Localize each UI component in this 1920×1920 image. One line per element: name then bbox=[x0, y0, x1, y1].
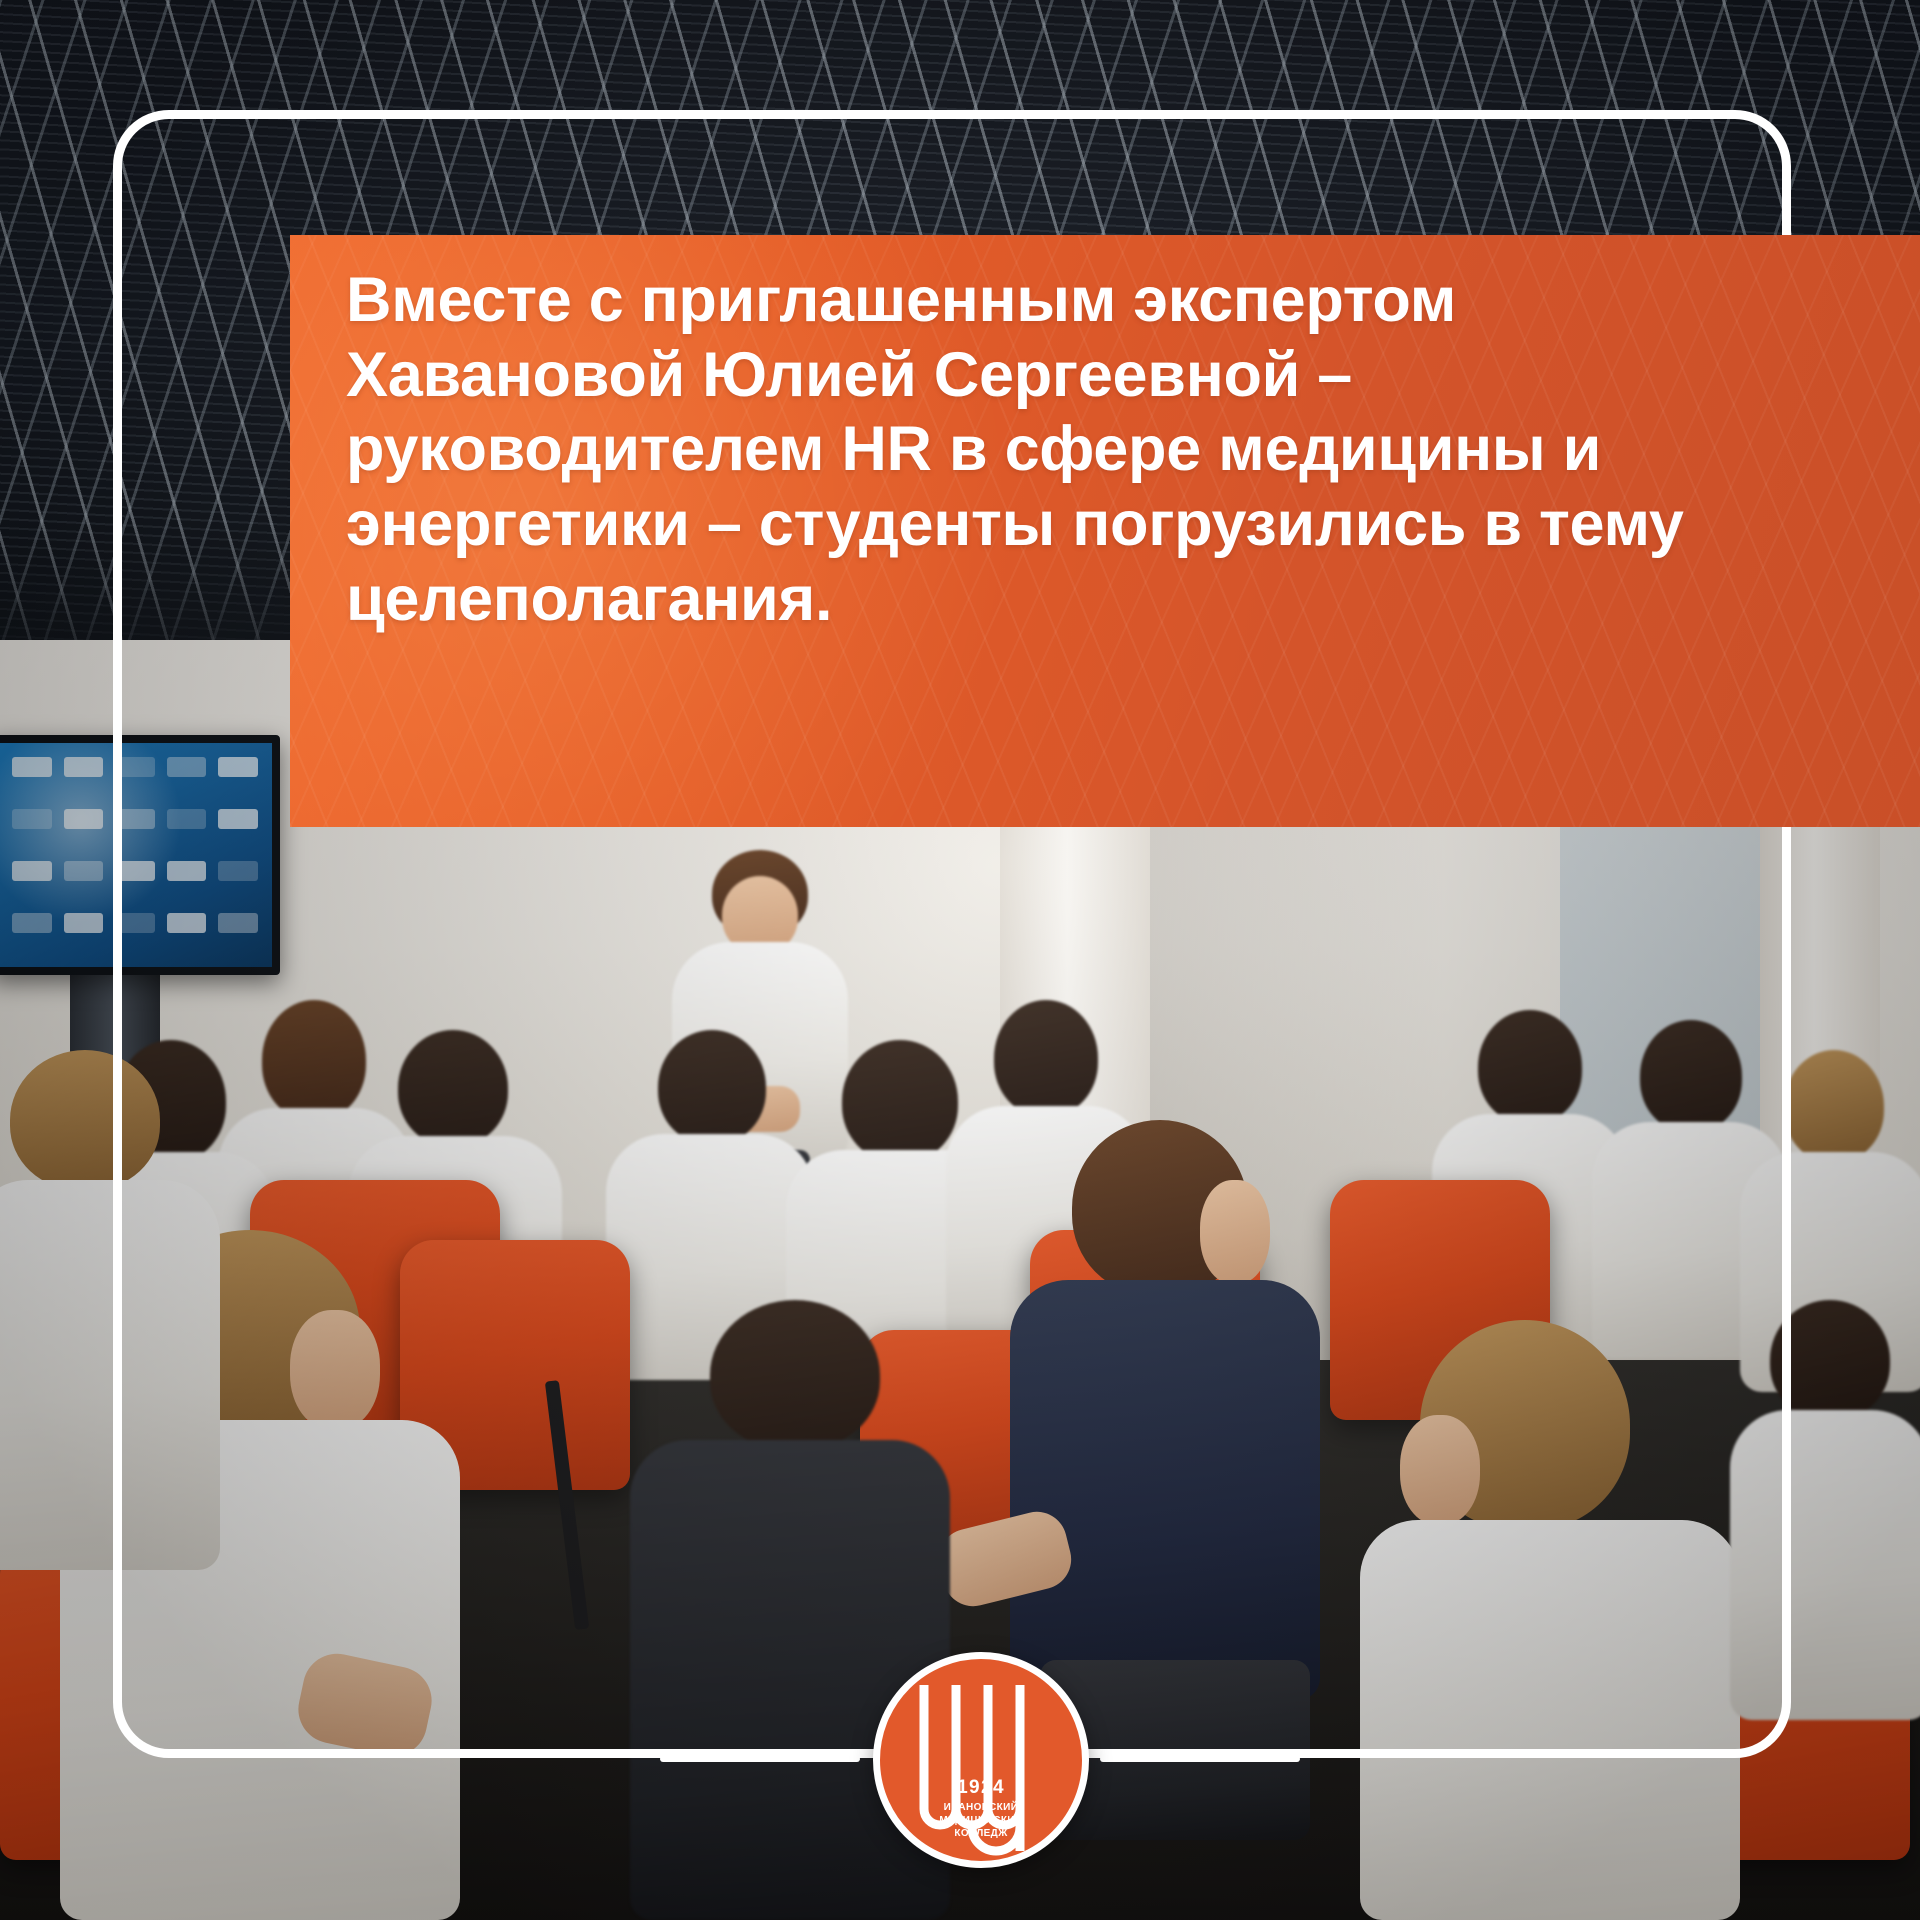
logo-name-line-3: КОЛЛЕДЖ bbox=[880, 1828, 1082, 1841]
logo-college-name: ИВАНОВСКИЙ МЕДИЦИНСКИЙ КОЛЛЕДЖ bbox=[880, 1802, 1082, 1840]
person-foreground-left-edge bbox=[0, 1050, 230, 1570]
social-post-poster: Вместе с приглашенным экспертом Хаваново… bbox=[0, 0, 1920, 1920]
white-coat bbox=[0, 1180, 220, 1570]
hair bbox=[994, 1000, 1098, 1116]
caption-panel: Вместе с приглашенным экспертом Хаваново… bbox=[290, 235, 1920, 827]
caption-text: Вместе с приглашенным экспертом Хаваново… bbox=[346, 263, 1705, 636]
wall-monitor bbox=[0, 735, 280, 975]
person-right-white-coat-lower bbox=[1730, 1300, 1920, 1720]
logo-rule-right bbox=[1100, 1756, 1300, 1762]
white-coat bbox=[1730, 1410, 1920, 1720]
logo-badge: 1924 ИВАНОВСКИЙ МЕДИЦИНСКИЙ КОЛЛЕДЖ bbox=[873, 1652, 1089, 1868]
hair bbox=[1770, 1300, 1890, 1420]
hair bbox=[1478, 1010, 1582, 1124]
hair bbox=[1640, 1020, 1742, 1132]
face bbox=[1400, 1415, 1480, 1525]
logo-name-line-2: МЕДИЦИНСКИЙ bbox=[880, 1815, 1082, 1828]
logo-rule-left bbox=[660, 1756, 860, 1762]
logo-name-line-1: ИВАНОВСКИЙ bbox=[880, 1802, 1082, 1815]
face bbox=[1200, 1180, 1270, 1284]
hair bbox=[398, 1030, 508, 1146]
white-coat bbox=[1360, 1520, 1740, 1920]
college-logo: 1924 ИВАНОВСКИЙ МЕДИЦИНСКИЙ КОЛЛЕДЖ bbox=[861, 1640, 1101, 1880]
logo-monogram-icon bbox=[880, 1659, 1096, 1875]
monitor-desktop-icons bbox=[12, 757, 258, 953]
hair bbox=[10, 1050, 160, 1190]
person-foreground-right-blond bbox=[1360, 1320, 1760, 1920]
logo-founding-year: 1924 bbox=[880, 1777, 1082, 1799]
hair bbox=[1784, 1050, 1884, 1162]
face bbox=[290, 1310, 380, 1430]
hair bbox=[710, 1300, 880, 1450]
hair bbox=[658, 1030, 766, 1144]
navy-polo bbox=[1010, 1280, 1320, 1700]
